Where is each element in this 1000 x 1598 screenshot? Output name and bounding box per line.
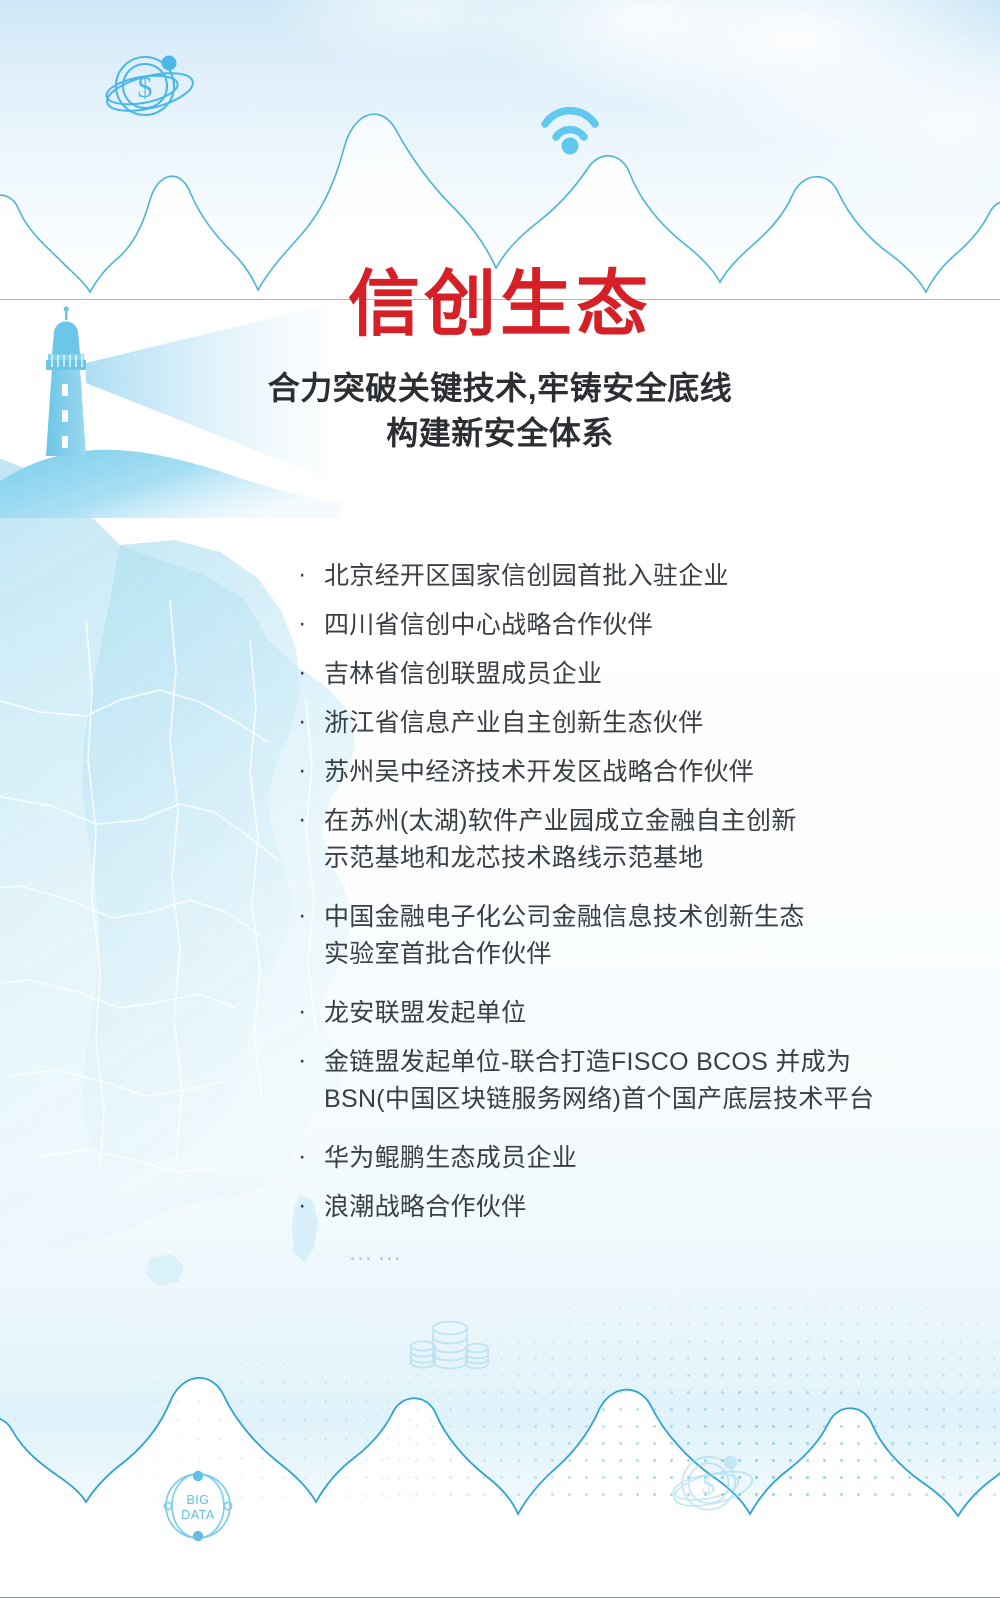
dollar-glyph: $: [138, 71, 153, 104]
list-item: 浪潮战略合作伙伴: [296, 1189, 936, 1226]
big-data-icon: BIG DATA: [160, 1468, 236, 1544]
list-item: 中国金融电子化公司金融信息技术创新生态 实验室首批合作伙伴: [296, 899, 936, 973]
wifi-icon: [535, 98, 605, 156]
list-item: 在苏州(太湖)软件产业园成立金融自主创新 示范基地和龙芯技术路线示范基地: [296, 803, 936, 877]
page-title: 信创生态: [0, 268, 1000, 344]
subtitle-line-1: 合力突破关键技术,牢铸安全底线: [0, 366, 1000, 411]
list-item: 龙安联盟发起单位: [296, 995, 936, 1032]
coin-stack-icon: [405, 1312, 495, 1374]
headline-block: 信创生态 合力突破关键技术,牢铸安全底线 构建新安全体系: [0, 268, 1000, 456]
dollar-glyph-secondary: $: [702, 1469, 716, 1499]
page-subtitle: 合力突破关键技术,牢铸安全底线 构建新安全体系: [0, 366, 1000, 457]
dollar-planet-icon: $: [92, 34, 212, 144]
achievement-list: 北京经开区国家信创园首批入驻企业四川省信创中心战略合作伙伴吉林省信创联盟成员企业…: [296, 558, 936, 1267]
list-item: 吉林省信创联盟成员企业: [296, 656, 936, 693]
list-item: 北京经开区国家信创园首批入驻企业: [296, 558, 936, 595]
big-data-label-line1: BIG: [186, 1493, 209, 1507]
subtitle-line-2: 构建新安全体系: [0, 411, 1000, 456]
big-data-label-line2: DATA: [181, 1508, 215, 1522]
list-ellipsis: ……: [320, 1238, 936, 1267]
list-item: 金链盟发起单位-联合打造FISCO BCOS 并成为 BSN(中国区块链服务网络…: [296, 1044, 936, 1118]
poster-canvas: $: [0, 0, 1000, 1598]
list-item: 浙江省信息产业自主创新生态伙伴: [296, 705, 936, 742]
list-item: 四川省信创中心战略合作伙伴: [296, 607, 936, 644]
dollar-planet-icon-secondary: $: [660, 1436, 770, 1536]
bottom-cloud-outline: [0, 1318, 1000, 1598]
list-item: 华为鲲鹏生态成员企业: [296, 1140, 936, 1177]
list-item: 苏州吴中经济技术开发区战略合作伙伴: [296, 754, 936, 791]
